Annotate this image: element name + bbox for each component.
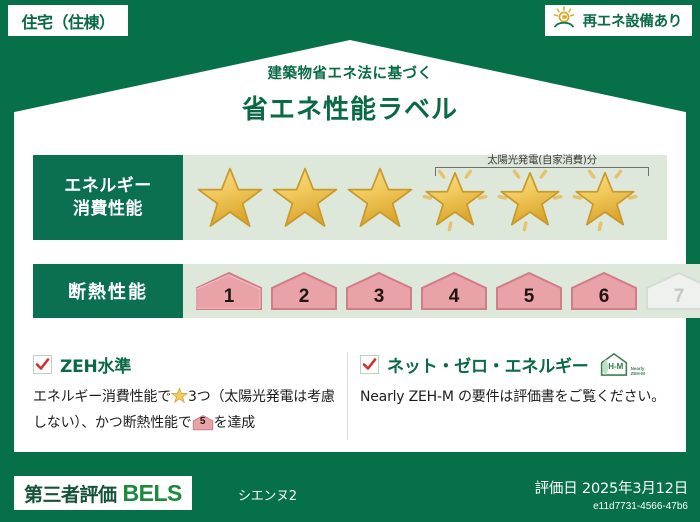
callout-divider	[347, 352, 348, 440]
zeh-body-pre: エネルギー消費性能で	[33, 389, 171, 405]
footer-meta: 評価日 2025年3月12日 e11d7731-4566-47b6	[535, 477, 688, 512]
grade-number: 6	[569, 286, 639, 308]
net-zero-body: Nearly ZEH-M の要件は評価書をご覧ください。	[360, 386, 668, 409]
insulation-grade-scale: 1 2 3 4 5 6 7	[183, 271, 700, 311]
grade-number: 1	[194, 286, 264, 308]
grade-badge: 5	[494, 271, 564, 311]
net-zero-title: ネット・ゼロ・エネルギー	[387, 352, 589, 377]
building-type-chip: 住宅（住棟）	[8, 5, 128, 36]
house-grade-icon: 5	[192, 414, 214, 431]
grade-badge: 4	[419, 271, 489, 311]
grade-number: 2	[269, 286, 339, 308]
grade-number: 4	[419, 286, 489, 308]
inline-grade-number: 5	[192, 414, 214, 430]
grade-number: 5	[494, 286, 564, 308]
energy-label-line2: 消費性能	[64, 198, 152, 221]
grade-badge: 2	[269, 271, 339, 311]
svg-text:H-M: H-M	[608, 362, 623, 371]
grade-number: 7	[644, 286, 700, 308]
renewable-energy-badge: 再エネ設備あり	[545, 5, 692, 36]
grade-badge-inactive: 7	[644, 271, 700, 311]
evaluation-date: 評価日 2025年3月12日	[535, 477, 688, 498]
energy-performance-body: 太陽光発電(自家消費)分	[183, 155, 667, 240]
zeh-body-post: を達成	[214, 415, 255, 431]
insulation-performance-row: 断熱性能 1 2 3 4 5	[33, 264, 667, 318]
energy-performance-row: エネルギー 消費性能 太陽光発電(自家消費)分	[33, 155, 667, 240]
third-party-eval-label: 第三者評価	[24, 480, 117, 507]
insulation-performance-label: 断熱性能	[33, 264, 183, 318]
star-filled	[270, 163, 340, 233]
zeh-standard-callout: ZEH水準 エネルギー消費性能で3つ（太陽光発電は考慮しない）、かつ断熱性能で5…	[33, 352, 338, 434]
zeh-m-caption-2: ZEH-M	[631, 371, 645, 377]
zeh-m-logo: H-M Nearly ZEH-M	[599, 352, 645, 377]
building-type-label: 住宅（住棟）	[21, 9, 114, 33]
star-filled	[195, 163, 265, 233]
star-solar	[420, 163, 490, 233]
energy-label-line1: エネルギー	[64, 175, 152, 198]
title-main: 省エネ性能ラベル	[0, 89, 700, 126]
grade-badge: 1	[194, 271, 264, 311]
building-name: シエンヌ2	[238, 485, 297, 504]
bels-certification-chip: 第三者評価 BELS	[14, 476, 192, 510]
sun-icon	[551, 6, 577, 35]
star-filled	[345, 163, 415, 233]
zeh-standard-body: エネルギー消費性能で3つ（太陽光発電は考慮しない）、かつ断熱性能で5を達成	[33, 386, 338, 434]
grade-number: 3	[344, 286, 414, 308]
zeh-standard-title: ZEH水準	[60, 352, 131, 377]
title-subtitle: 建築物省エネ法に基づく	[0, 62, 700, 83]
zeh-standard-checkbox	[33, 355, 52, 374]
insulation-performance-body: 1 2 3 4 5 6 7	[183, 264, 700, 318]
page-title: 建築物省エネ法に基づく 省エネ性能ラベル	[0, 62, 700, 126]
grade-badge: 6	[569, 271, 639, 311]
bels-brand: BELS	[123, 480, 182, 507]
certificate-id: e11d7731-4566-47b6	[535, 501, 688, 512]
net-zero-checkbox	[360, 355, 379, 374]
grade-badge: 3	[344, 271, 414, 311]
renewable-energy-label: 再エネ設備あり	[583, 10, 682, 31]
energy-performance-label: エネルギー 消費性能	[33, 155, 183, 240]
star-icon	[171, 387, 188, 412]
star-solar	[570, 163, 640, 233]
star-solar	[495, 163, 565, 233]
net-zero-energy-callout: ネット・ゼロ・エネルギー H-M Nearly ZEH-M Nearly ZEH…	[360, 352, 668, 409]
star-rating	[183, 163, 640, 233]
